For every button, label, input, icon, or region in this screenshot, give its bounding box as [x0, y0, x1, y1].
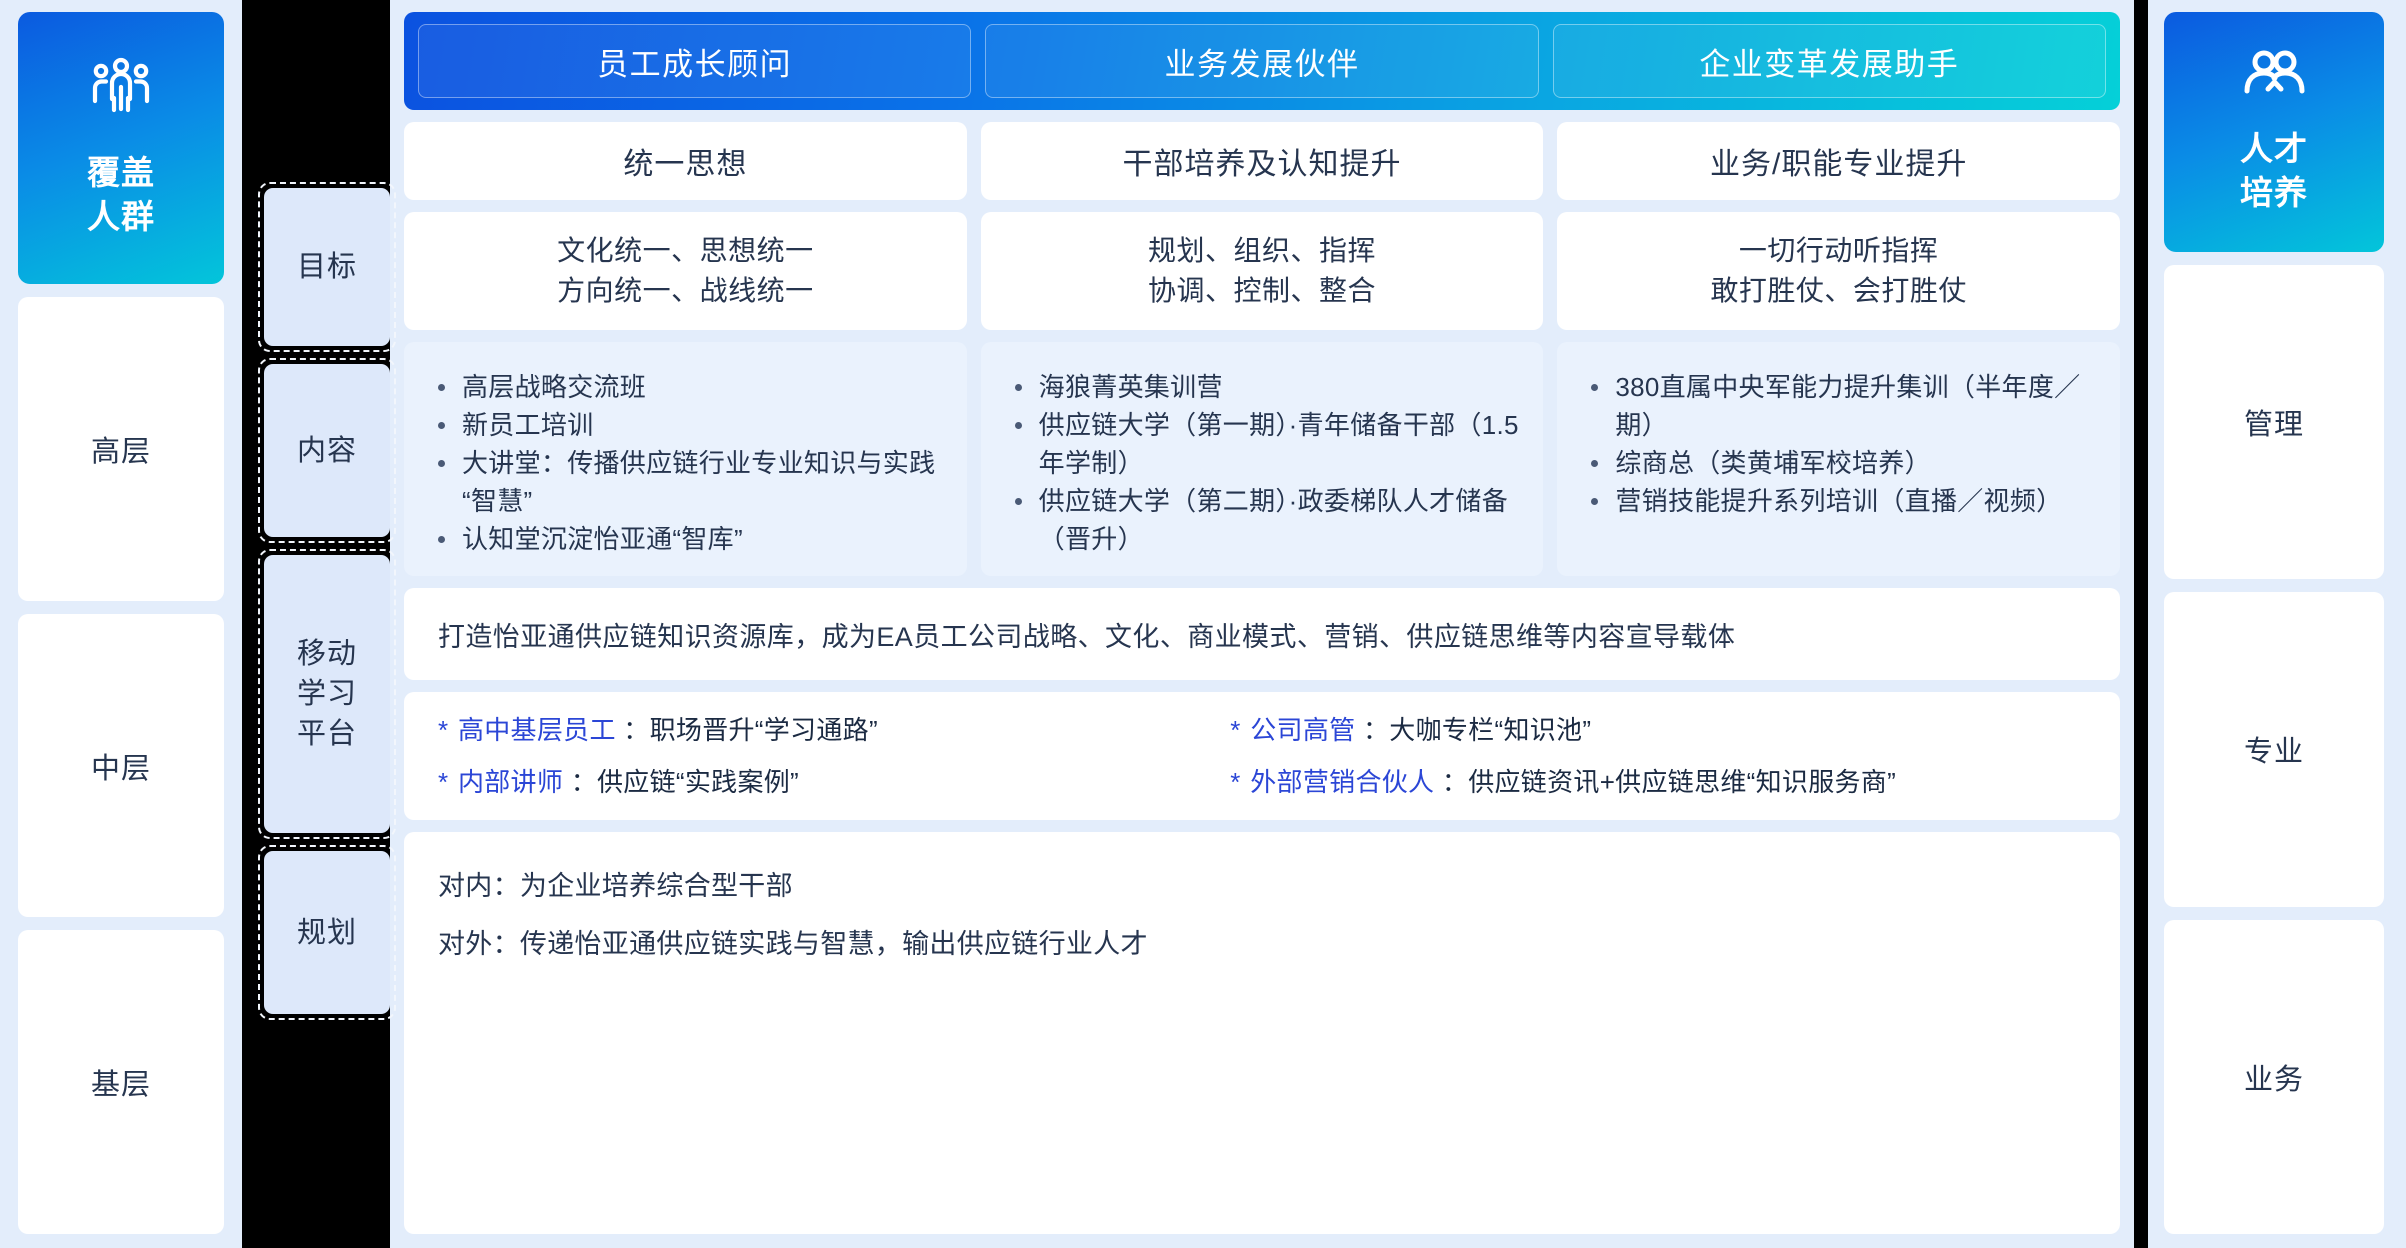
- subtitle-card-2-label: 干部培养及认知提升: [1123, 139, 1402, 183]
- list-item: 海狼菁英集训营: [1009, 368, 1522, 406]
- row-label-plan[interactable]: 规划: [258, 845, 396, 1020]
- audience-item-3-what: ：供应链“实践案例”: [571, 767, 799, 797]
- rail-item-business-label: 业务: [2244, 1056, 2304, 1098]
- rail-item-professional[interactable]: 专业: [2164, 592, 2384, 906]
- left-rail-header-label: 覆盖 人群: [87, 151, 155, 239]
- audience-row: * 高中基层员工 ：职场晋升“学习通路” * 公司高管 ：大咖专栏“知识池” *…: [404, 692, 2120, 820]
- subtitle-card-3[interactable]: 业务/职能专业提升: [1557, 122, 2120, 200]
- goal-card-3-line2: 敢打胜仗、会打胜仗: [1710, 271, 1967, 311]
- tab-enterprise-change-assistant-label: 企业变革发展助手: [1699, 39, 1959, 84]
- rail-item-frontline[interactable]: 基层: [18, 930, 224, 1234]
- plan-row: 对内：为企业培养综合型干部 对外：传递怡亚通供应链实践与智慧，输出供应链行业人才: [404, 832, 2120, 1234]
- list-item: 综商总（类黄埔军校培养）: [1585, 444, 2098, 482]
- subtitle-card-1[interactable]: 统一思想: [404, 122, 967, 200]
- list-item: 营销技能提升系列培训（直播／视频）: [1585, 482, 2098, 520]
- goal-card-2-line2: 协调、控制、整合: [1148, 271, 1376, 311]
- rail-item-business[interactable]: 业务: [2164, 920, 2384, 1234]
- list-item: 认知堂沉淀怡亚通“智库”: [432, 520, 945, 558]
- audience-item-3[interactable]: * 内部讲师 ：供应链“实践案例”: [438, 761, 1230, 803]
- asterisk-icon: *: [1230, 715, 1240, 745]
- content-row: 高层战略交流班 新员工培训 大讲堂：传播供应链行业专业知识与实践“智慧” 认知堂…: [404, 342, 2120, 576]
- subtitle-row: 统一思想 干部培养及认知提升 业务/职能专业提升: [404, 122, 2120, 200]
- right-rail-header: 人才 培养: [2164, 12, 2384, 252]
- content-card-1-list: 高层战略交流班 新员工培训 大讲堂：传播供应链行业专业知识与实践“智慧” 认知堂…: [432, 368, 945, 558]
- row-label-goal-text: 目标: [264, 188, 390, 346]
- right-rail: 人才 培养 管理 专业 业务: [2148, 0, 2406, 1248]
- goal-card-1[interactable]: 文化统一、思想统一 方向统一、战线统一: [404, 212, 967, 330]
- goal-row: 文化统一、思想统一 方向统一、战线统一 规划、组织、指挥 协调、控制、整合 一切…: [404, 212, 2120, 330]
- rail-item-middle[interactable]: 中层: [18, 614, 224, 918]
- row-label-list: 目标 内容 移动 学习 平台 规划: [242, 182, 390, 1236]
- row-label-band: 目标 内容 移动 学习 平台 规划: [242, 0, 390, 1248]
- audience-item-1-what: ：职场晋升“学习通路”: [623, 715, 878, 745]
- audience-item-4[interactable]: * 外部营销合伙人 ：供应链资讯+供应链思维“知识服务商”: [1230, 761, 2086, 803]
- list-item: 大讲堂：传播供应链行业专业知识与实践“智慧”: [432, 444, 945, 520]
- list-item: 供应链大学（第二期）·政委梯队人才储备（晋升）: [1009, 482, 1522, 558]
- row-label-plan-text: 规划: [264, 851, 390, 1014]
- row-label-goal[interactable]: 目标: [258, 182, 396, 352]
- content-card-2-list: 海狼菁英集训营 供应链大学（第一期）·青年储备干部（1.5年学制） 供应链大学（…: [1009, 368, 1522, 558]
- list-item: 新员工培训: [432, 406, 945, 444]
- main-grid: 员工成长顾问 业务发展伙伴 企业变革发展助手 统一思想 干部培养及认知提升 业务…: [390, 0, 2134, 1248]
- list-item: 供应链大学（第一期）·青年储备干部（1.5年学制）: [1009, 406, 1522, 482]
- rail-item-management[interactable]: 管理: [2164, 265, 2384, 579]
- people-group-icon: [89, 57, 153, 117]
- goal-card-1-line1: 文化统一、思想统一: [557, 231, 814, 271]
- content-card-3[interactable]: 380直属中央军能力提升集训（半年度／期） 综商总（类黄埔军校培养） 营销技能提…: [1557, 342, 2120, 576]
- knowledge-base-card[interactable]: 打造怡亚通供应链知识资源库，成为EA员工公司战略、文化、商业模式、营销、供应链思…: [404, 588, 2120, 680]
- list-item: 380直属中央军能力提升集训（半年度／期）: [1585, 368, 2098, 444]
- audience-item-2-who: 公司高管: [1250, 715, 1355, 745]
- people-pair-icon: [2241, 49, 2307, 99]
- right-rail-header-label: 人才 培养: [2240, 127, 2308, 215]
- audience-item-4-what: ：供应链资讯+供应链思维“知识服务商”: [1442, 767, 1896, 797]
- content-card-1[interactable]: 高层战略交流班 新员工培训 大讲堂：传播供应链行业专业知识与实践“智慧” 认知堂…: [404, 342, 967, 576]
- rail-item-middle-label: 中层: [91, 745, 151, 787]
- rail-item-senior-label: 高层: [91, 428, 151, 470]
- audience-card: * 高中基层员工 ：职场晋升“学习通路” * 公司高管 ：大咖专栏“知识池” *…: [404, 692, 2120, 820]
- audience-item-4-who: 外部营销合伙人: [1250, 767, 1434, 797]
- subtitle-card-3-label: 业务/职能专业提升: [1710, 139, 1967, 183]
- plan-line-internal: 对内：为企业培养综合型干部: [438, 866, 2086, 906]
- tab-business-development-partner[interactable]: 业务发展伙伴: [985, 24, 1538, 98]
- role-ribbon: 员工成长顾问 业务发展伙伴 企业变革发展助手: [404, 12, 2120, 110]
- asterisk-icon: *: [438, 767, 448, 797]
- asterisk-icon: *: [1230, 767, 1240, 797]
- subtitle-card-2[interactable]: 干部培养及认知提升: [981, 122, 1544, 200]
- tab-employee-growth-advisor[interactable]: 员工成长顾问: [418, 24, 971, 98]
- tab-business-development-partner-label: 业务发展伙伴: [1164, 39, 1359, 84]
- tab-employee-growth-advisor-label: 员工成长顾问: [597, 39, 792, 84]
- audience-item-2[interactable]: * 公司高管 ：大咖专栏“知识池”: [1230, 709, 2086, 751]
- content-card-2[interactable]: 海狼菁英集训营 供应链大学（第一期）·青年储备干部（1.5年学制） 供应链大学（…: [981, 342, 1544, 576]
- rail-item-frontline-label: 基层: [91, 1061, 151, 1103]
- subtitle-card-1-label: 统一思想: [623, 139, 747, 183]
- right-separator: [2134, 0, 2148, 1248]
- audience-item-1-who: 高中基层员工: [458, 715, 616, 745]
- left-rail-header: 覆盖 人群: [18, 12, 224, 284]
- list-item: 高层战略交流班: [432, 368, 945, 406]
- audience-item-3-who: 内部讲师: [458, 767, 563, 797]
- plan-card[interactable]: 对内：为企业培养综合型干部 对外：传递怡亚通供应链实践与智慧，输出供应链行业人才: [404, 832, 2120, 1234]
- goal-card-3[interactable]: 一切行动听指挥 敢打胜仗、会打胜仗: [1557, 212, 2120, 330]
- left-rail: 覆盖 人群 高层 中层 基层: [0, 0, 242, 1248]
- row-label-content[interactable]: 内容: [258, 358, 396, 543]
- goal-card-2[interactable]: 规划、组织、指挥 协调、控制、整合: [981, 212, 1544, 330]
- slide-root: 覆盖 人群 高层 中层 基层 目标 内容 移动 学习 平台 规划: [0, 0, 2406, 1248]
- goal-card-1-line2: 方向统一、战线统一: [557, 271, 814, 311]
- content-card-3-list: 380直属中央军能力提升集训（半年度／期） 综商总（类黄埔军校培养） 营销技能提…: [1585, 368, 2098, 520]
- plan-line-external: 对外：传递怡亚通供应链实践与智慧，输出供应链行业人才: [438, 924, 2086, 964]
- tab-enterprise-change-assistant[interactable]: 企业变革发展助手: [1553, 24, 2106, 98]
- audience-item-1[interactable]: * 高中基层员工 ：职场晋升“学习通路”: [438, 709, 1230, 751]
- audience-item-2-what: ：大咖专栏“知识池”: [1363, 715, 1591, 745]
- asterisk-icon: *: [438, 715, 448, 745]
- row-label-content-text: 内容: [264, 364, 390, 537]
- goal-card-3-line1: 一切行动听指挥: [1739, 231, 1939, 271]
- knowledge-base-text: 打造怡亚通供应链知识资源库，成为EA员工公司战略、文化、商业模式、营销、供应链思…: [438, 615, 1735, 654]
- row-label-mobile-learning[interactable]: 移动 学习 平台: [258, 549, 396, 839]
- goal-card-2-line1: 规划、组织、指挥: [1148, 231, 1376, 271]
- rail-item-senior[interactable]: 高层: [18, 297, 224, 601]
- rail-item-professional-label: 专业: [2244, 728, 2304, 770]
- row-label-mobile-learning-text: 移动 学习 平台: [264, 555, 390, 833]
- knowledge-base-row: 打造怡亚通供应链知识资源库，成为EA员工公司战略、文化、商业模式、营销、供应链思…: [404, 588, 2120, 680]
- rail-item-management-label: 管理: [2244, 401, 2304, 443]
